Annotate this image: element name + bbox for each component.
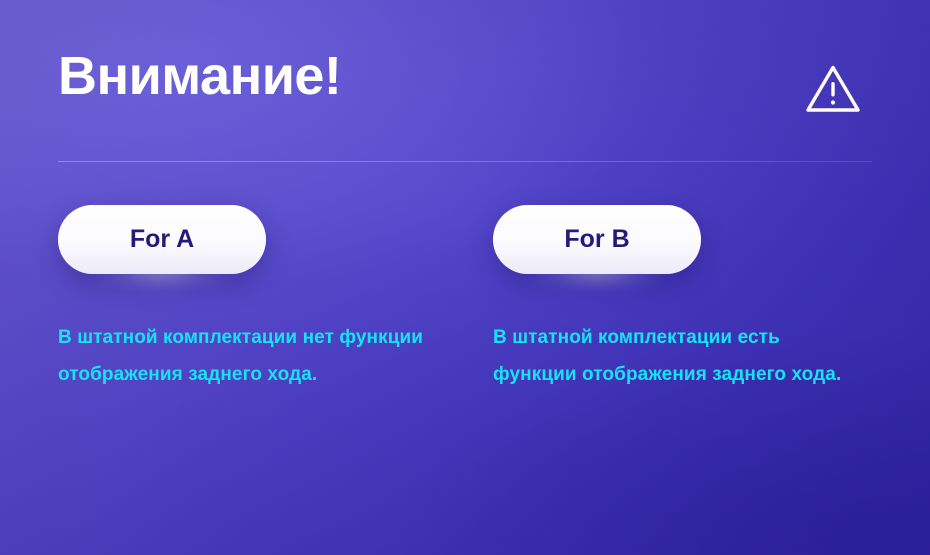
header-divider (58, 161, 872, 162)
slide-content: Внимание! For A В штатной комплектации н… (0, 0, 930, 412)
badge-for-b[interactable]: For B (493, 205, 701, 274)
column-for-a: For A В штатной комплектации нет функции… (58, 205, 433, 412)
pill-wrap-for-b: For B (493, 205, 701, 274)
description-for-a: В штатной комплектации нет функции отобр… (58, 319, 433, 393)
pill-wrap-for-a: For A (58, 205, 266, 274)
description-for-b: В штатной комплектации есть функции отоб… (493, 319, 868, 393)
attention-slide: Внимание! For A В штатной комплектации н… (0, 0, 930, 555)
warning-triangle-icon (804, 62, 862, 121)
comparison-columns: For A В штатной комплектации нет функции… (58, 205, 872, 412)
page-title: Внимание! (58, 48, 341, 105)
slide-header: Внимание! (58, 0, 872, 121)
badge-for-a[interactable]: For A (58, 205, 266, 274)
column-for-b: For B В штатной комплектации есть функци… (493, 205, 868, 412)
